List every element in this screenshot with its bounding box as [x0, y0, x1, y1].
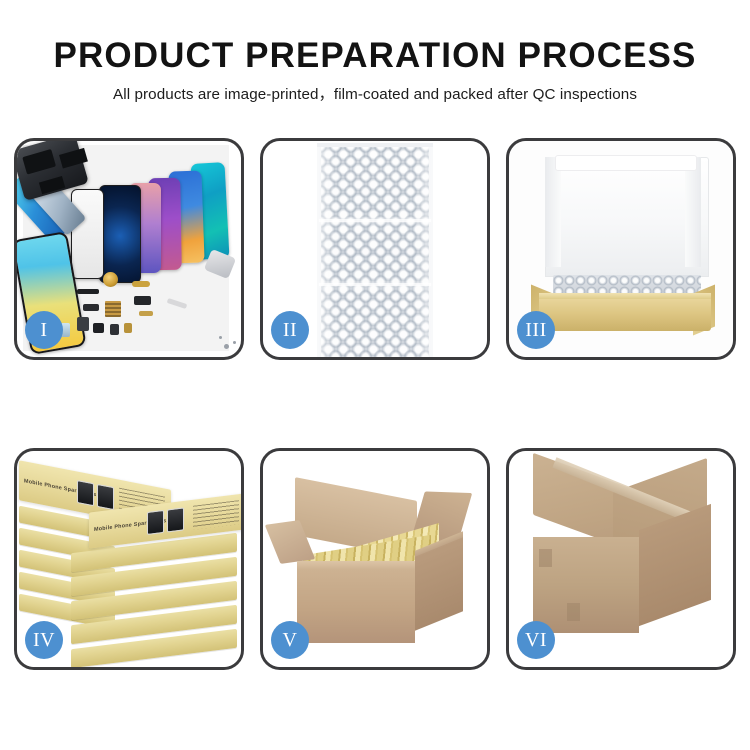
box-spec-lines	[193, 500, 239, 530]
process-step-panel-1[interactable]: I	[14, 138, 244, 360]
bubble-wrap-pouch-icon	[321, 147, 429, 357]
header: PRODUCT PREPARATION PROCESS All products…	[0, 36, 750, 105]
box-artwork-screen-icon	[147, 510, 164, 535]
process-step-panel-3[interactable]: III	[506, 138, 736, 360]
step-badge-1: I	[25, 311, 63, 349]
step-badge-6: VI	[517, 621, 555, 659]
box-artwork-screen-icon	[97, 484, 114, 510]
spare-part-gold-strip-icon	[139, 311, 153, 316]
foam-lid-edge-icon	[555, 155, 697, 171]
step-badge-5: V	[271, 621, 309, 659]
spare-part-button-icon	[83, 304, 99, 311]
phone-dark-screen-icon	[99, 185, 141, 283]
bubble-wrap-seam-icon	[319, 219, 431, 222]
process-step-panel-2[interactable]: II	[260, 138, 490, 360]
box-artwork-screen-icon	[77, 480, 94, 506]
spare-part-screws-icon	[224, 344, 229, 349]
carton-seam-mark-icon	[567, 603, 580, 621]
spare-part-bracket-icon	[77, 317, 89, 331]
spare-part-module-icon	[110, 324, 119, 335]
bubble-wrap-seam-icon	[319, 283, 431, 286]
spare-part-speaker-coil-icon	[103, 272, 118, 287]
process-step-panel-4[interactable]: Mobile Phone Spare Parts Mobile Phone Sp…	[14, 448, 244, 670]
product-preparation-infographic: PRODUCT PREPARATION PROCESS All products…	[0, 0, 750, 750]
foam-lid-left-flap-icon	[545, 157, 561, 267]
process-step-panel-6[interactable]: VI	[506, 448, 736, 670]
box-artwork-screen-icon	[167, 507, 184, 532]
spare-part-strip-icon	[77, 289, 99, 294]
process-step-panel-5[interactable]: V	[260, 448, 490, 670]
spare-part-connector-grid-icon	[105, 301, 121, 317]
inner-box-front-icon	[539, 299, 711, 331]
step-badge-2: II	[271, 311, 309, 349]
step-badge-4: IV	[25, 621, 63, 659]
process-step-grid: I II	[14, 138, 736, 670]
carton-handle-slot-icon	[539, 549, 552, 567]
spare-part-gold-contact-icon	[124, 323, 132, 333]
page-subtitle: All products are image-printed，film-coat…	[0, 85, 750, 105]
spare-part-flex-cable-icon	[132, 281, 150, 287]
page-title: PRODUCT PREPARATION PROCESS	[0, 36, 750, 76]
spare-part-chip-icon	[134, 296, 151, 305]
spare-part-camera-icon	[93, 323, 104, 333]
foam-lid-right-flap-icon	[685, 157, 701, 267]
step-badge-3: III	[517, 311, 555, 349]
carton-front-panel-icon	[297, 569, 415, 643]
phone-white-screen-icon	[71, 189, 104, 279]
